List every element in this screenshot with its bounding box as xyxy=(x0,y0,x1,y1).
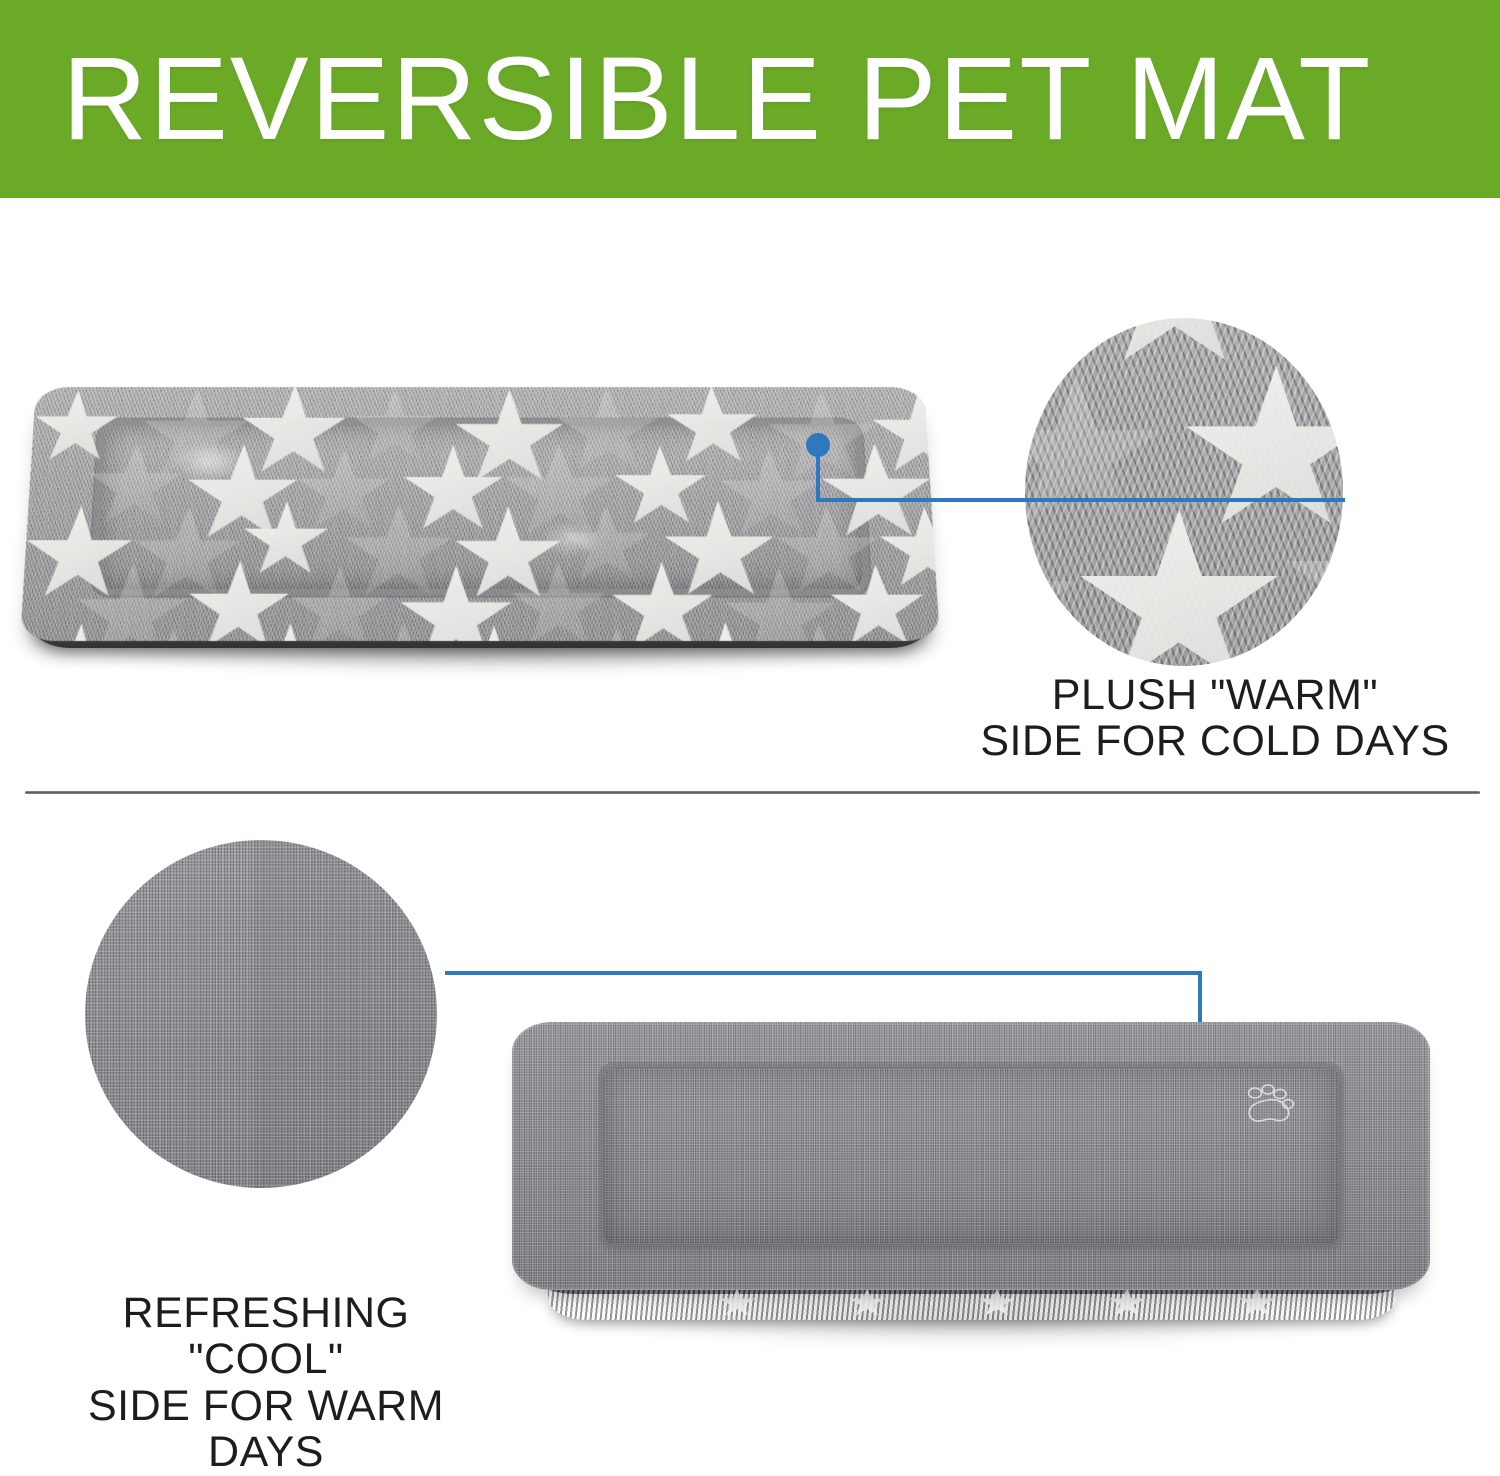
star-motif xyxy=(1025,657,1182,666)
star-motif xyxy=(772,622,870,641)
star-motif xyxy=(1025,318,1076,393)
star-motif xyxy=(1025,372,1167,539)
header-banner: REVERSIBLE PET MAT xyxy=(0,0,1500,198)
plush-star-side-mat xyxy=(14,370,954,670)
star-motif xyxy=(449,625,539,641)
paw-print-logo-icon xyxy=(1238,1082,1296,1128)
star-motif xyxy=(1076,510,1282,666)
page-title: REVERSIBLE PET MAT xyxy=(0,40,1372,158)
star-motif xyxy=(1088,318,1262,374)
star-motif xyxy=(231,624,346,641)
section-divider xyxy=(25,791,1480,794)
star-motif xyxy=(560,627,676,641)
star-motif xyxy=(869,389,940,480)
star-motif xyxy=(20,624,139,641)
infographic-page: REVERSIBLE PET MAT PLUSH "WARM" SIDE FOR… xyxy=(0,0,1500,1381)
star-motif xyxy=(929,443,940,524)
star-motif xyxy=(1281,508,1343,661)
mat-top-surface xyxy=(512,1022,1430,1290)
star-motif xyxy=(670,622,785,641)
star-motif xyxy=(346,621,461,641)
mat-center-panel xyxy=(604,1068,1338,1245)
star-motif xyxy=(124,627,220,641)
star-motif xyxy=(1025,519,1083,666)
star-motif xyxy=(1182,366,1343,539)
star-motif xyxy=(930,561,940,641)
callout-label-cool: REFRESHING "COOL" SIDE FOR WARM DAYS xyxy=(46,1290,486,1476)
cool-fabric-zoom-circle xyxy=(85,840,437,1188)
plush-fabric-zoom-circle xyxy=(1025,318,1343,666)
cool-linen-texture xyxy=(85,840,437,1188)
mat-inner-panel xyxy=(96,427,863,589)
cool-linen-side-mat xyxy=(512,1022,1430,1342)
mat-top-surface xyxy=(20,387,940,641)
plush-fabric-texture xyxy=(1025,318,1343,666)
star-motif xyxy=(876,506,940,593)
star-motif xyxy=(885,627,940,641)
callout-label-warm: PLUSH "WARM" SIDE FOR COLD DAYS xyxy=(980,672,1450,765)
star-motif xyxy=(1272,318,1343,415)
